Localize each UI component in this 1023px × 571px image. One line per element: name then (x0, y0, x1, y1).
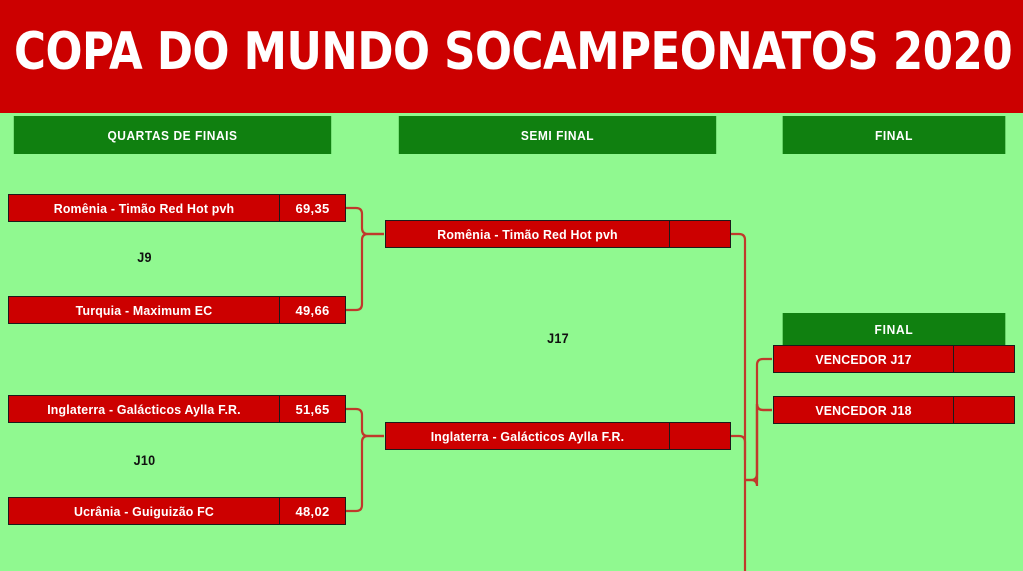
team-score: 49,66 (279, 297, 345, 323)
team-score (953, 346, 1014, 372)
game-id-label: J17 (402, 330, 713, 346)
round-header-final: FINAL (783, 116, 1006, 154)
match-row[interactable]: Inglaterra - Galácticos Aylla F.R. (385, 422, 731, 450)
match-row[interactable]: Inglaterra - Galácticos Aylla F.R. 51,65 (8, 395, 346, 423)
round-header-semi-final: SEMI FINAL (399, 116, 716, 154)
match-row[interactable]: VENCEDOR J18 (773, 396, 1015, 424)
title-banner: COPA DO MUNDO SOCAMPEONATOS 2020 (0, 0, 1023, 113)
game-id-label: J9 (22, 249, 268, 265)
team-name: VENCEDOR J18 (778, 397, 948, 423)
team-score (953, 397, 1014, 423)
team-name: Romênia - Timão Red Hot pvh (16, 195, 273, 221)
match-row[interactable]: Romênia - Timão Red Hot pvh 69,35 (8, 194, 346, 222)
team-name: VENCEDOR J17 (778, 346, 948, 372)
team-score: 69,35 (279, 195, 345, 221)
team-score: 48,02 (279, 498, 345, 524)
team-name: Romênia - Timão Red Hot pvh (393, 221, 662, 247)
page-title: COPA DO MUNDO SOCAMPEONATOS 2020 (14, 26, 1012, 78)
match-row[interactable]: Ucrânia - Guiguizão FC 48,02 (8, 497, 346, 525)
match-row[interactable]: VENCEDOR J17 (773, 345, 1015, 373)
team-name: Ucrânia - Guiguizão FC (16, 498, 273, 524)
match-row[interactable]: Turquia - Maximum EC 49,66 (8, 296, 346, 324)
team-name: Turquia - Maximum EC (16, 297, 273, 323)
match-row[interactable]: Romênia - Timão Red Hot pvh (385, 220, 731, 248)
team-score (669, 221, 730, 247)
round-header-quarter-finals: QUARTAS DE FINAIS (14, 116, 331, 154)
team-score (669, 423, 730, 449)
team-score: 51,65 (279, 396, 345, 422)
team-name: Inglaterra - Galácticos Aylla F.R. (16, 396, 273, 422)
game-id-label: J10 (22, 452, 268, 468)
final-subheader: FINAL (783, 313, 1006, 345)
team-name: Inglaterra - Galácticos Aylla F.R. (393, 423, 662, 449)
